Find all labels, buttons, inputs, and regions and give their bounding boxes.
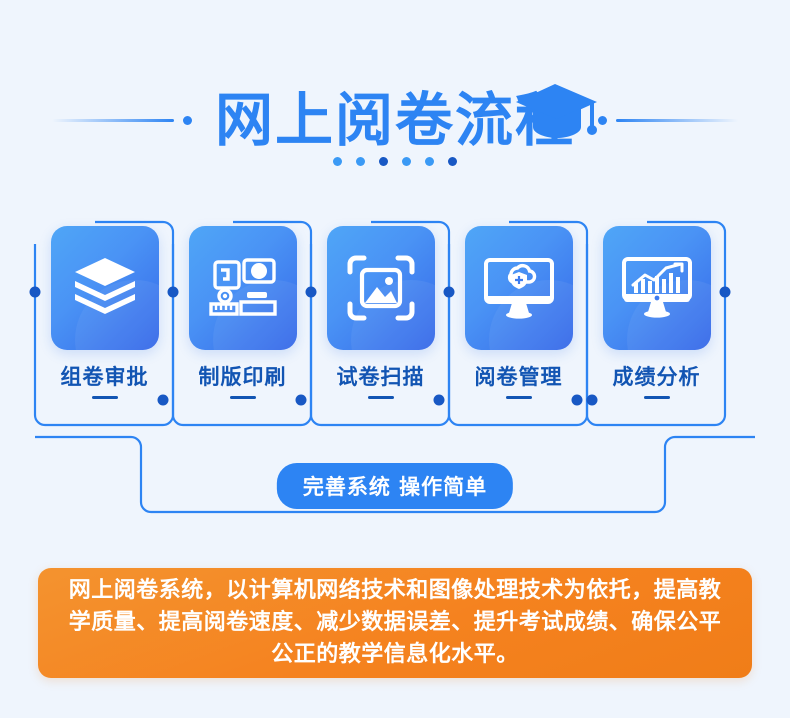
layers-icon	[71, 256, 139, 320]
flow-icon-tile-1	[51, 226, 159, 350]
feature-badge: 完善系统 操作简单	[277, 463, 513, 509]
flow-icon-tile-4	[465, 226, 573, 350]
decor-dot	[425, 157, 434, 166]
flow-card-underline	[506, 396, 532, 399]
decor-dot	[402, 157, 411, 166]
title-dot-right	[598, 116, 607, 125]
monitor-chart-icon	[620, 256, 694, 320]
scan-image-icon	[346, 254, 416, 322]
description-text: 网上阅卷系统，以计算机网络技术和图像处理技术为依托，提高教学质量、提高阅卷速度、…	[61, 575, 729, 671]
flow-card-5[interactable]: 成绩分析	[592, 226, 721, 431]
description-banner: 网上阅卷系统，以计算机网络技术和图像处理技术为依托，提高教学质量、提高阅卷速度、…	[38, 568, 752, 678]
flow-card-2[interactable]: 制版印刷	[178, 226, 307, 431]
decor-dot	[356, 157, 365, 166]
flow-card-underline	[230, 396, 256, 399]
decor-dot	[448, 157, 457, 166]
flow-card-label: 成绩分析	[613, 361, 701, 391]
graduation-cap-icon	[513, 82, 599, 142]
flow-card-4[interactable]: 阅卷管理	[454, 226, 583, 431]
flow-card-underline	[368, 396, 394, 399]
flow-icon-tile-2	[189, 226, 297, 350]
monitor-shield-icon	[482, 256, 556, 320]
flow-card-underline	[92, 396, 118, 399]
title-dot-left	[183, 116, 192, 125]
title-rule-right	[616, 119, 738, 122]
flow-card-label: 阅卷管理	[475, 361, 563, 391]
flow-card-3[interactable]: 试卷扫描	[316, 226, 445, 431]
printer-camera-icon	[207, 256, 279, 320]
decor-dot	[333, 157, 342, 166]
flow-card-underline	[644, 396, 670, 399]
flow-icon-tile-5	[603, 226, 711, 350]
title-decor-dots	[0, 157, 790, 166]
page-header: 网上阅卷流程	[0, 42, 790, 177]
flow-card-label: 制版印刷	[199, 361, 287, 391]
flow-card-list: 组卷审批	[0, 210, 790, 440]
flow-card-label: 组卷审批	[61, 361, 149, 391]
flow-card-1[interactable]: 组卷审批	[40, 226, 169, 431]
decor-dot	[379, 157, 388, 166]
flow-card-label: 试卷扫描	[337, 361, 425, 391]
title-row: 网上阅卷流程	[0, 90, 790, 150]
title-rule-left	[52, 119, 174, 122]
flow-icon-tile-3	[327, 226, 435, 350]
